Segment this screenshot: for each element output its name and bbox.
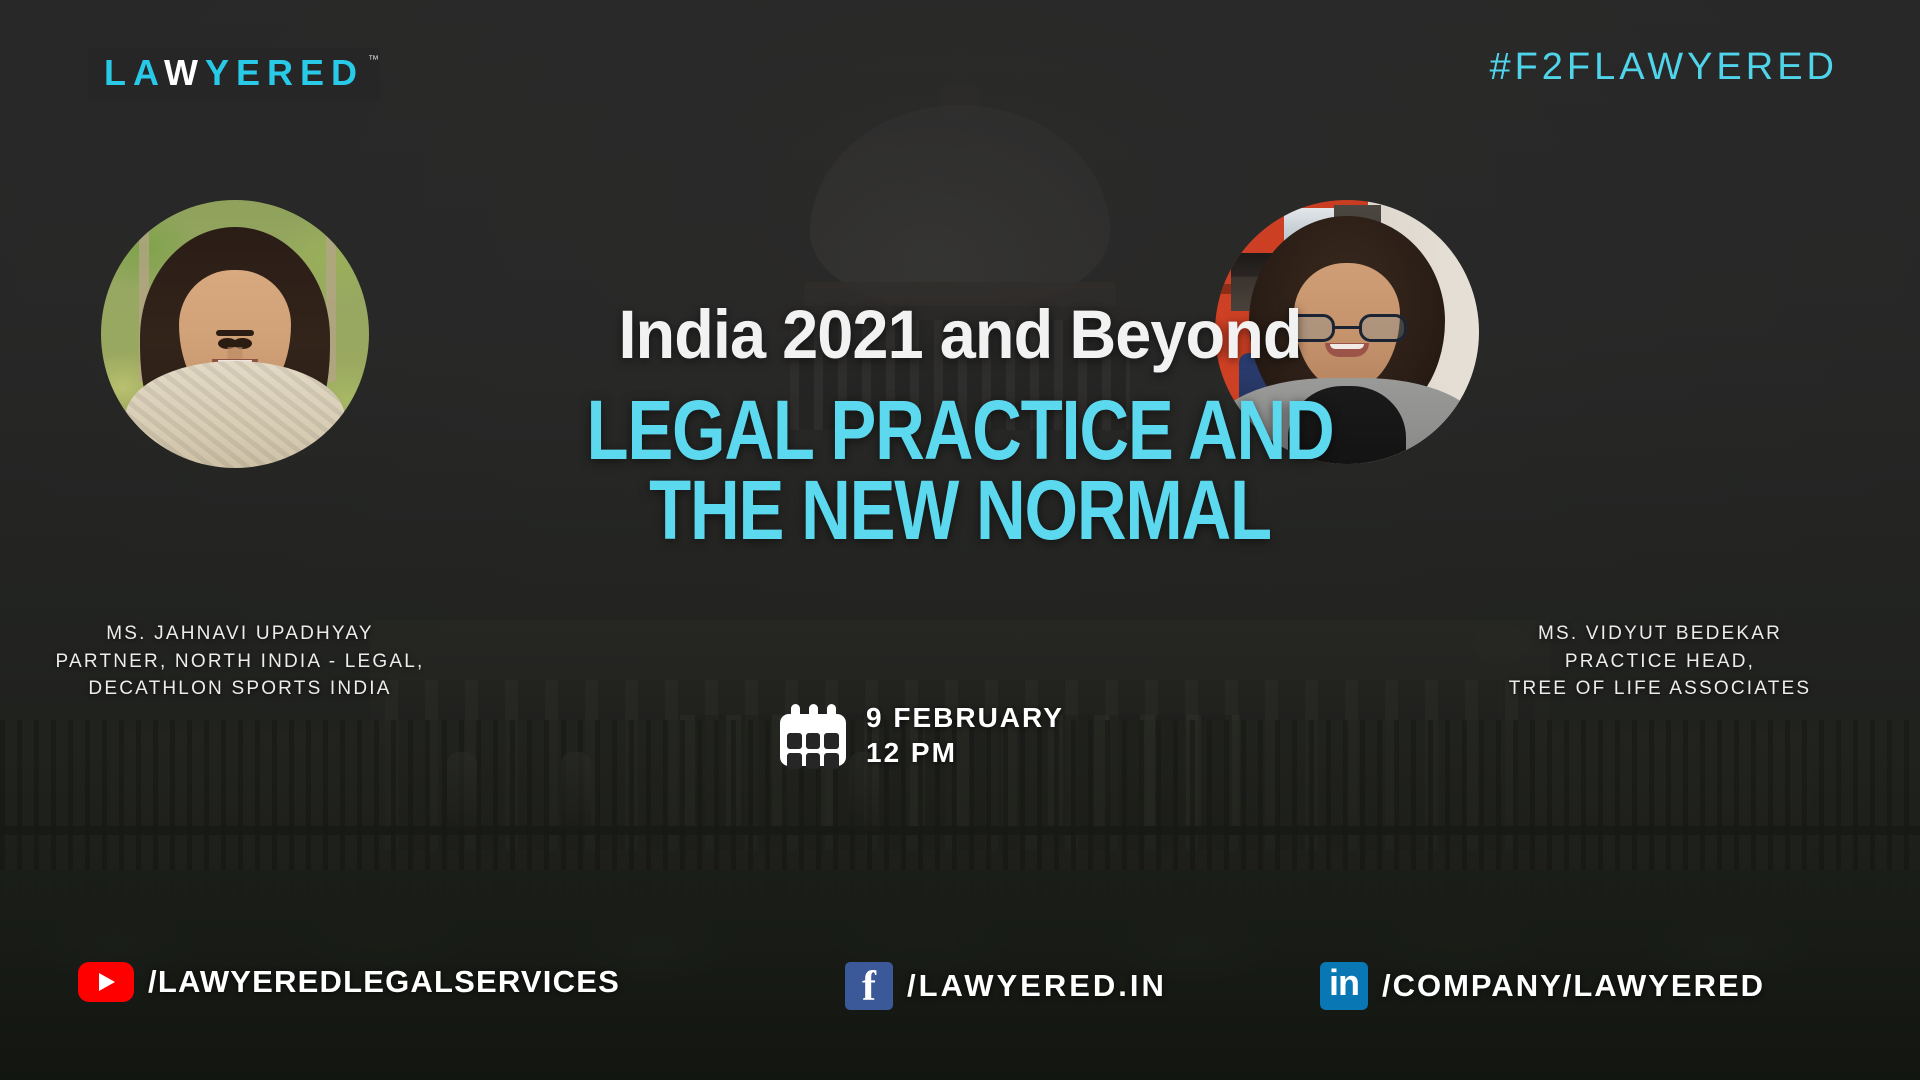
event-time: 12 PM bbox=[866, 735, 1064, 770]
facebook-handle[interactable]: /LAWYERED.IN bbox=[907, 968, 1167, 1004]
logo-part-1: LA bbox=[104, 52, 164, 93]
calendar-icon bbox=[780, 704, 846, 766]
speaker-1-role: PARTNER, NORTH INDIA - LEGAL, bbox=[30, 648, 450, 676]
event-datetime: 9 FEBRUARY 12 PM bbox=[780, 700, 1064, 770]
youtube-handle[interactable]: /LAWYEREDLEGALSERVICES bbox=[148, 964, 620, 1000]
event-headline: LEGAL PRACTICE AND THE NEW NORMAL bbox=[173, 391, 1747, 551]
speaker-1-caption: MS. JAHNAVI UPADHYAY PARTNER, NORTH INDI… bbox=[30, 620, 450, 703]
social-link-linkedin[interactable]: in /COMPANY/LAWYERED bbox=[1320, 962, 1765, 1010]
headline-line-2: THE NEW NORMAL bbox=[173, 471, 1747, 551]
trademark-symbol: ™ bbox=[368, 54, 379, 66]
logo-part-2: YERED bbox=[205, 52, 364, 93]
lawyered-logo[interactable]: LAWYERED ™ bbox=[88, 48, 380, 100]
speaker-2-role: PRACTICE HEAD, bbox=[1450, 648, 1870, 676]
speaker-2-name: MS. VIDYUT BEDEKAR bbox=[1450, 620, 1870, 648]
speaker-2-org: TREE OF LIFE ASSOCIATES bbox=[1450, 675, 1870, 703]
linkedin-handle[interactable]: /COMPANY/LAWYERED bbox=[1382, 968, 1765, 1004]
logo-wordmark: LAWYERED bbox=[104, 55, 364, 91]
speaker-1-name: MS. JAHNAVI UPADHYAY bbox=[30, 620, 450, 648]
webinar-poster: LAWYERED ™ #F2FLAWYERED bbox=[0, 0, 1920, 1080]
datetime-text: 9 FEBRUARY 12 PM bbox=[866, 700, 1064, 770]
center-text-block: India 2021 and Beyond LEGAL PRACTICE AND… bbox=[0, 300, 1920, 551]
facebook-icon[interactable]: f bbox=[845, 962, 893, 1010]
linkedin-icon[interactable]: in bbox=[1320, 962, 1368, 1010]
event-hashtag: #F2FLAWYERED bbox=[1489, 46, 1838, 89]
speaker-1-org: DECATHLON SPORTS INDIA bbox=[30, 675, 450, 703]
logo-letter-w: W bbox=[164, 52, 205, 93]
social-link-youtube[interactable]: /LAWYEREDLEGALSERVICES bbox=[78, 962, 620, 1002]
social-bar: /LAWYEREDLEGALSERVICES f /LAWYERED.IN in… bbox=[0, 962, 1920, 1020]
speaker-2-caption: MS. VIDYUT BEDEKAR PRACTICE HEAD, TREE O… bbox=[1450, 620, 1870, 703]
event-date: 9 FEBRUARY bbox=[866, 700, 1064, 735]
social-link-facebook[interactable]: f /LAWYERED.IN bbox=[845, 962, 1167, 1010]
youtube-icon[interactable] bbox=[78, 962, 134, 1002]
headline-line-1: LEGAL PRACTICE AND bbox=[173, 391, 1747, 471]
event-subtitle: India 2021 and Beyond bbox=[58, 300, 1863, 369]
